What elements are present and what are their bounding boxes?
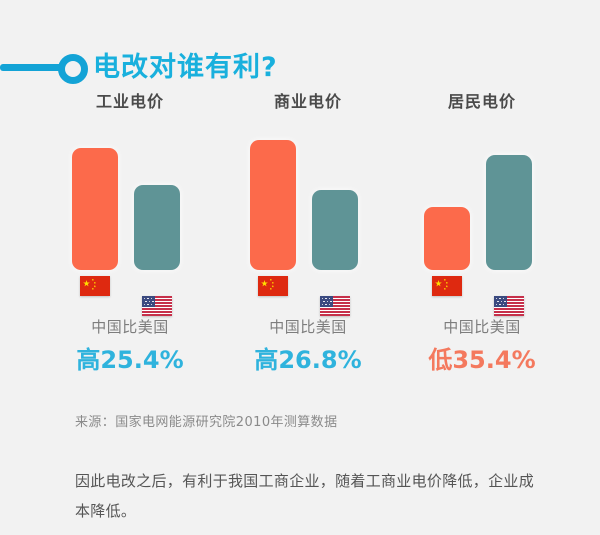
chart-group-residential: 居民电价: [392, 88, 572, 388]
source-note: 来源：国家电网能源研究院2010年测算数据: [75, 411, 337, 430]
bar-china: [250, 140, 296, 270]
compare-value: 高25.4%: [40, 340, 220, 375]
header: 电改对谁有利?: [0, 24, 600, 64]
footer-paragraph: 因此电改之后，有利于我国工商企业，随着工商业电价降低，企业成本降低。: [75, 466, 535, 526]
bar-usa: [486, 155, 532, 270]
compare-value: 低35.4%: [392, 340, 572, 375]
compare-label: 中国比美国: [218, 316, 398, 337]
usa-flag-icon: [320, 296, 350, 316]
bar-usa-fill: [134, 185, 180, 270]
compare-label: 中国比美国: [40, 316, 220, 337]
usa-flag-icon: [142, 296, 172, 316]
bar-usa-fill: [486, 155, 532, 270]
bar-usa-fill: [312, 190, 358, 270]
usa-flag-icon: [494, 296, 524, 316]
bar-china-fill: [424, 207, 470, 270]
flag-row: [218, 276, 398, 298]
compare-value: 高26.8%: [218, 340, 398, 375]
bar-china-fill: [250, 140, 296, 270]
bar-chart: 工业电价: [0, 88, 600, 388]
bar-zone: [218, 118, 398, 270]
china-flag-icon: [80, 276, 110, 296]
bar-china: [72, 148, 118, 270]
china-flag-icon: [432, 276, 462, 296]
compare-label: 中国比美国: [392, 316, 572, 337]
chart-group-commercial: 商业电价: [218, 88, 398, 388]
bar-zone: [392, 118, 572, 270]
header-circle-icon: [58, 54, 88, 84]
bar-usa: [134, 185, 180, 270]
infographic-page: 电改对谁有利? 工业电价: [0, 0, 600, 535]
bar-usa: [312, 190, 358, 270]
flag-row: [392, 276, 572, 298]
china-flag-icon: [258, 276, 288, 296]
page-title: 电改对谁有利?: [93, 45, 278, 84]
group-title: 商业电价: [218, 88, 398, 112]
bar-china-fill: [72, 148, 118, 270]
group-title: 工业电价: [40, 88, 220, 112]
bar-zone: [40, 118, 220, 270]
group-title: 居民电价: [392, 88, 572, 112]
chart-group-industrial: 工业电价: [40, 88, 220, 388]
bar-china: [424, 207, 470, 270]
flag-row: [40, 276, 220, 298]
